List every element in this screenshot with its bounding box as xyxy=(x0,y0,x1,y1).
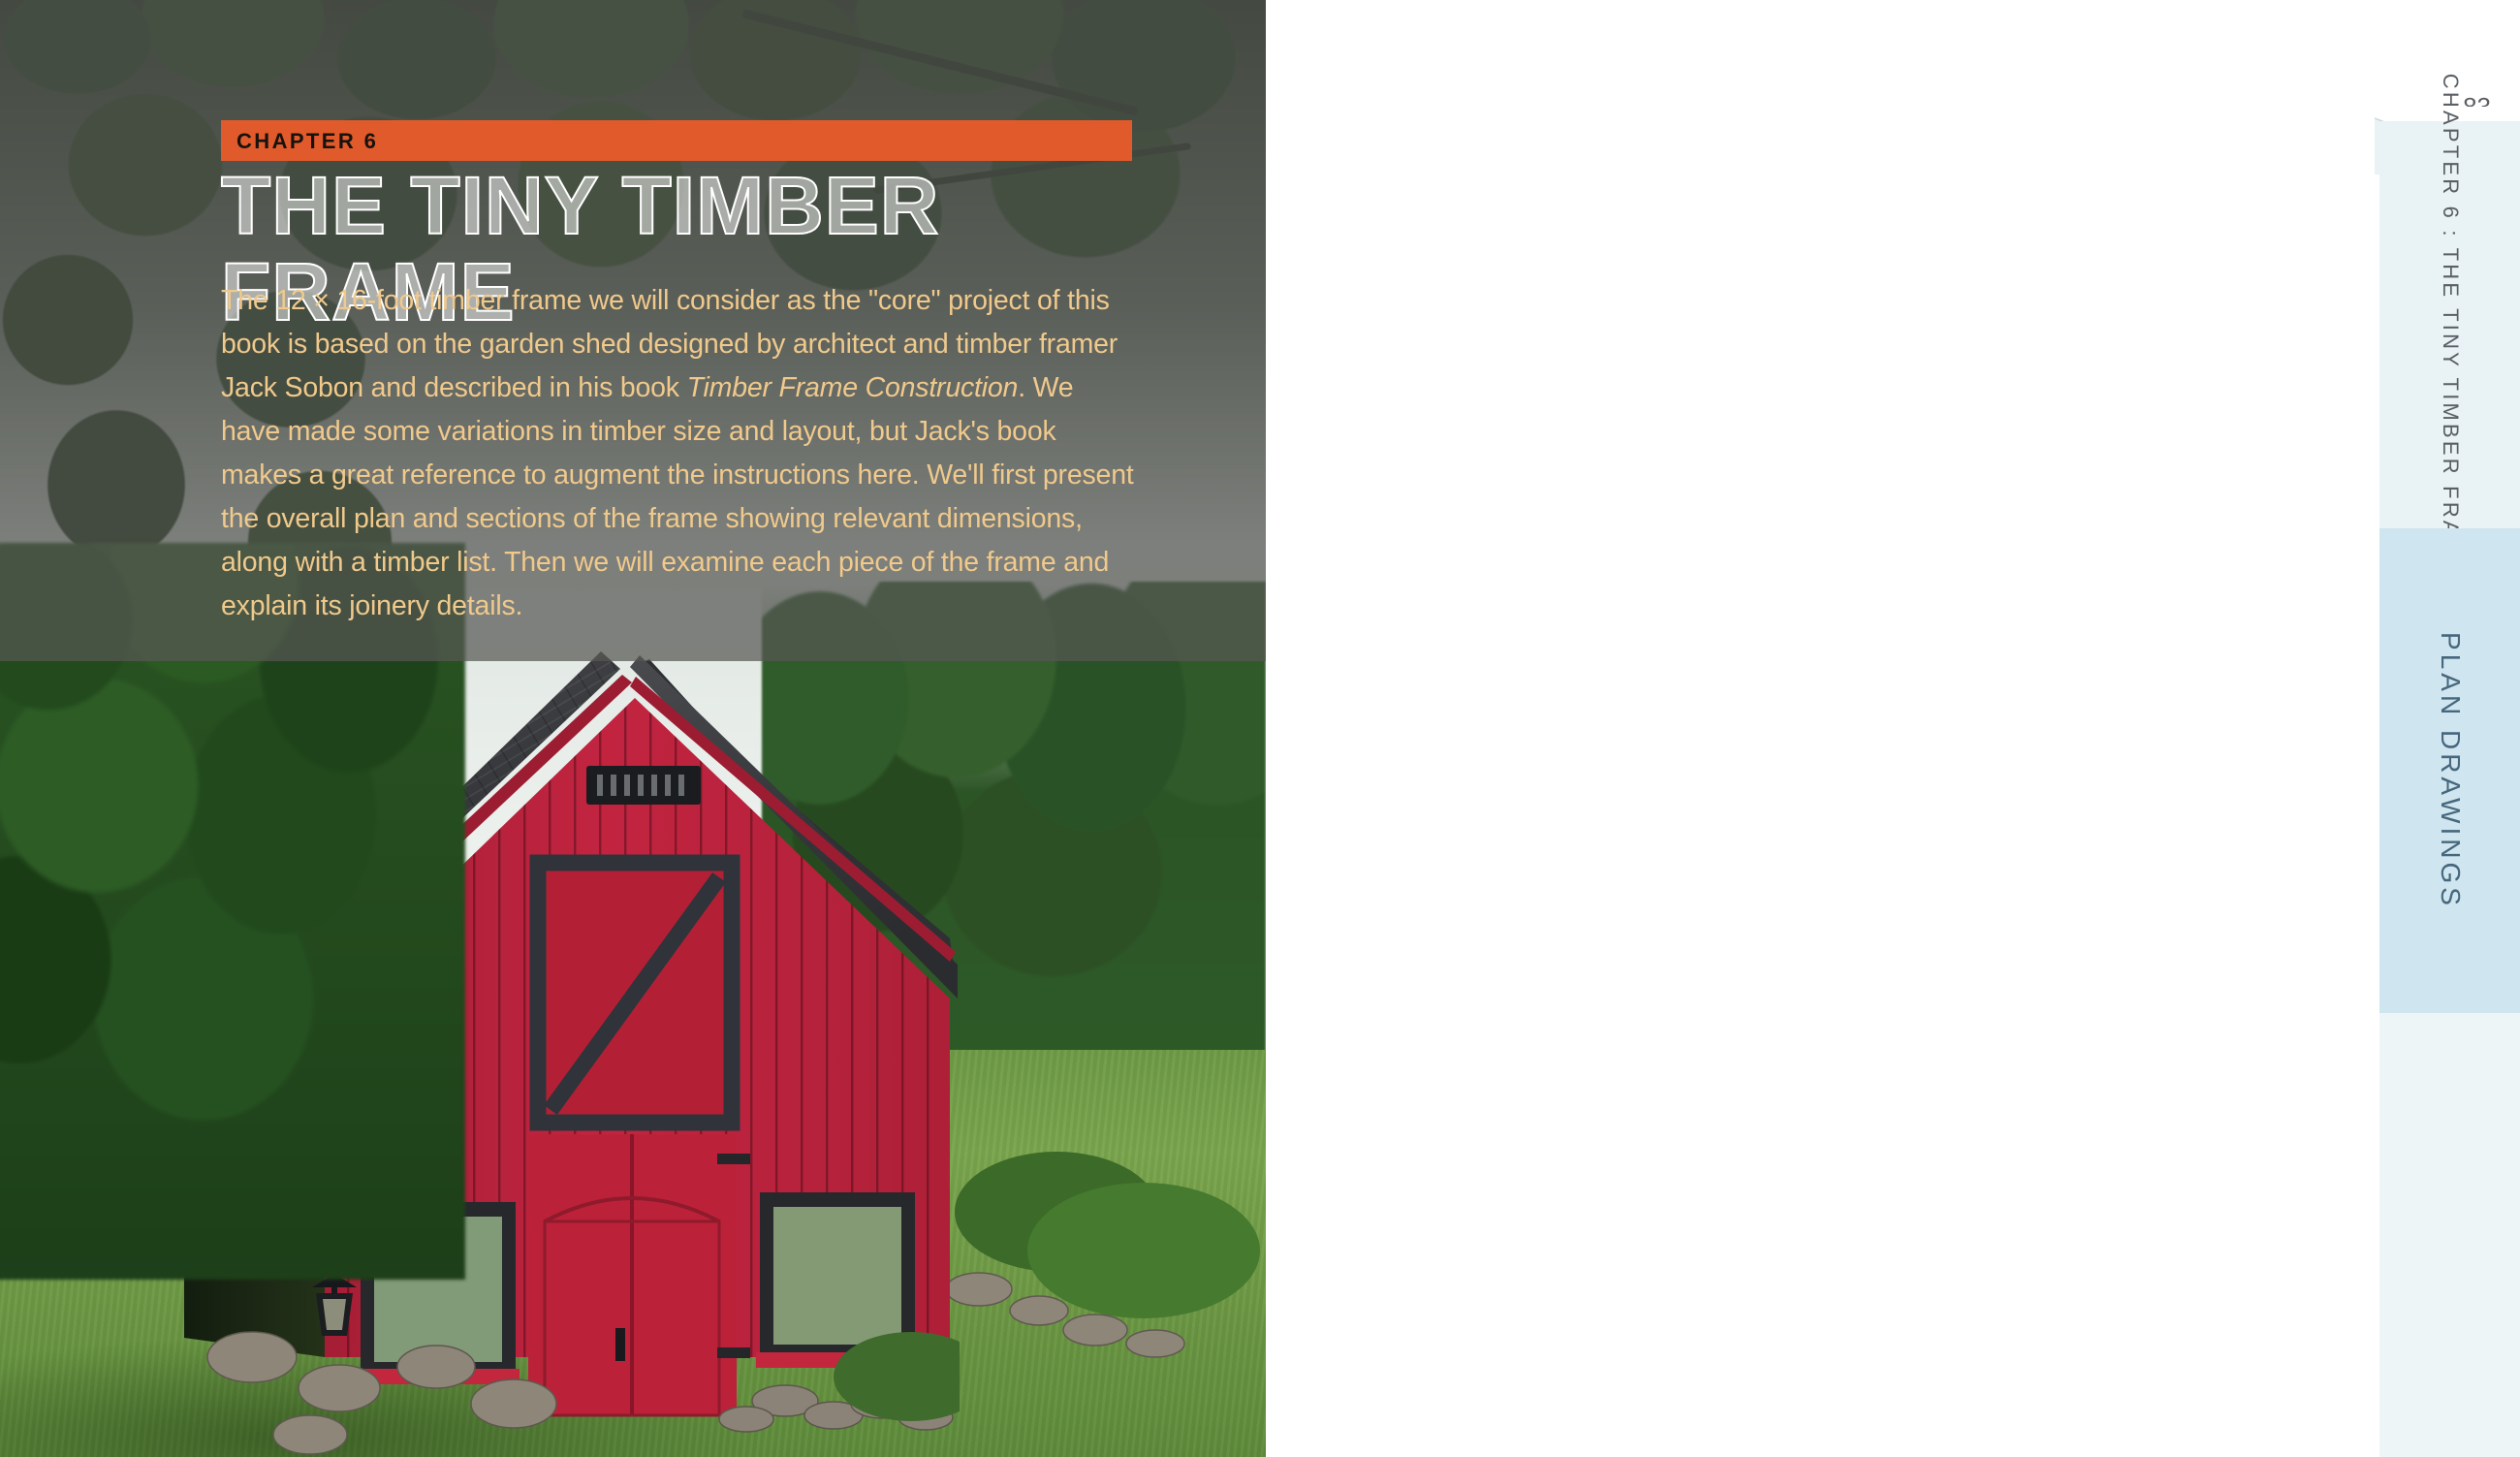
tab-chapter-6-label: CHAPTER 6 : THE TINY TIMBER FRAME xyxy=(2438,74,2463,576)
book-spread: CHAPTER 6 THE TINY TIMBER FRAME The 12 ×… xyxy=(0,0,2520,1457)
foreground-stones xyxy=(194,1299,601,1457)
foreground-shrubs xyxy=(950,1144,1266,1415)
intro-part-two: . We have made some variations in timber… xyxy=(221,372,1134,621)
chapter-number-label: CHAPTER 6 xyxy=(236,129,378,154)
tab-plan-drawings-label: PLAN DRAWINGS xyxy=(2435,632,2466,909)
tab-filler xyxy=(2379,1013,2520,1457)
chapter-intro-paragraph: The 12 × 16-foot timber frame we will co… xyxy=(221,279,1137,628)
tab-plan-drawings[interactable]: PLAN DRAWINGS xyxy=(2379,528,2520,1013)
book-title-italic: Timber Frame Construction xyxy=(687,372,1019,403)
chapter-number-bar: CHAPTER 6 xyxy=(221,120,1132,161)
tab-chapter-6[interactable]: CHAPTER 6 : THE TINY TIMBER FRAME xyxy=(2379,121,2520,528)
left-page: CHAPTER 6 THE TINY TIMBER FRAME The 12 ×… xyxy=(0,0,1266,1457)
right-page: EXPLODED FRAME VIEW 83 CHAPTER 6 : THE T… xyxy=(1266,0,2520,1457)
